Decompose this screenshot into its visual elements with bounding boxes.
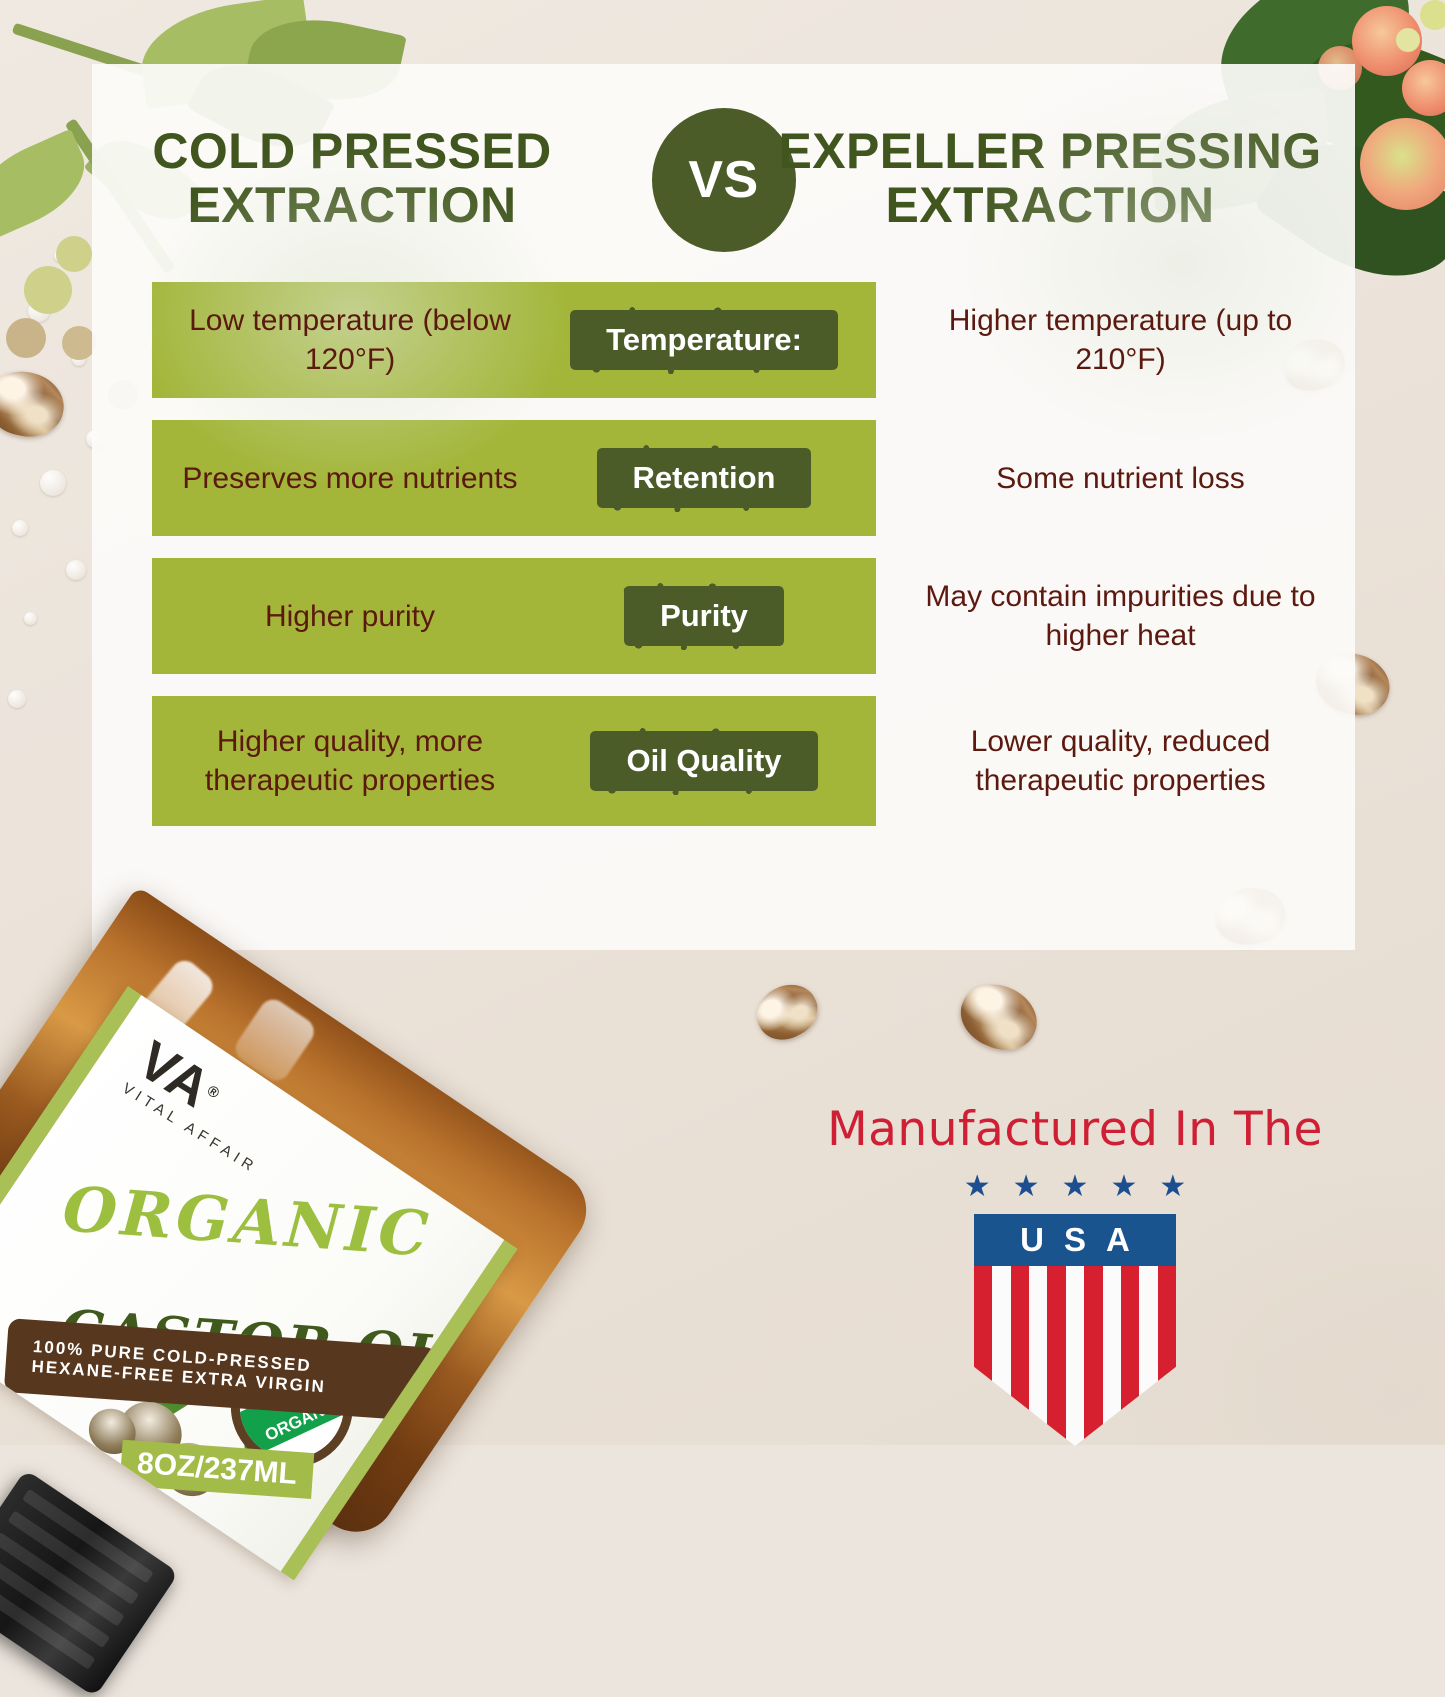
attribute-badge: Retention <box>607 448 802 508</box>
heading-expeller: EXPELLER PRESSING EXTRACTION <box>755 124 1345 232</box>
manufactured-in-usa-badge: Manufactured In The ★ ★ ★ ★ ★ U S A <box>815 1102 1335 1432</box>
usa-letter: S <box>1064 1221 1086 1259</box>
star-icon: ★ <box>1159 1169 1186 1204</box>
attribute-badge: Temperature: <box>580 310 828 370</box>
product-bottle: VA® VITAL AFFAIR ORGANIC CASTOR OIL USDA… <box>0 790 780 1490</box>
star-icon: ★ <box>964 1169 991 1204</box>
usa-badge-title: Manufactured In The <box>815 1102 1335 1157</box>
cell-expeller: Higher temperature (up to 210°F) <box>876 295 1357 385</box>
attribute-badge: Oil Quality <box>600 731 807 791</box>
star-icon: ★ <box>1013 1169 1040 1204</box>
table-row: Preserves more nutrients Retention Some … <box>152 420 1357 536</box>
cell-attribute: Temperature: <box>532 310 876 370</box>
product-name-line1: ORGANIC <box>61 1172 435 1271</box>
cell-cold-pressed: Preserves more nutrients <box>152 453 532 504</box>
cell-attribute: Purity <box>532 586 876 646</box>
cell-expeller: Lower quality, reduced therapeutic prope… <box>876 716 1357 806</box>
cell-cold-pressed: Higher quality, more therapeutic propert… <box>152 716 532 806</box>
bottle-label: VA® VITAL AFFAIR ORGANIC CASTOR OIL USDA… <box>0 986 518 1580</box>
usa-letters-band: U S A <box>974 1214 1176 1266</box>
card-header: COLD PRESSED EXTRACTION VS EXPELLER PRES… <box>92 114 1355 274</box>
star-icon: ★ <box>1062 1169 1089 1204</box>
usa-letter: A <box>1106 1221 1130 1259</box>
usa-stars-row: ★ ★ ★ ★ ★ <box>815 1169 1335 1204</box>
cell-cold-pressed: Higher purity <box>152 591 532 642</box>
comparison-table: Low temperature (below 120°F) Temperatur… <box>152 282 1357 848</box>
heading-cold-pressed: COLD PRESSED EXTRACTION <box>112 124 592 232</box>
table-row: Higher purity Purity May contain impurit… <box>152 558 1357 674</box>
bottle-cap <box>0 1469 179 1697</box>
cell-expeller: Some nutrient loss <box>876 453 1357 504</box>
cell-cold-pressed: Low temperature (below 120°F) <box>152 295 532 385</box>
usa-letter: U <box>1020 1221 1044 1259</box>
usa-flag-stripes <box>974 1266 1176 1446</box>
cell-attribute: Retention <box>532 448 876 508</box>
cell-attribute: Oil Quality <box>532 731 876 791</box>
attribute-badge: Purity <box>634 586 774 646</box>
star-icon: ★ <box>1110 1169 1137 1204</box>
usa-shield: U S A <box>974 1214 1176 1446</box>
table-row: Low temperature (below 120°F) Temperatur… <box>152 282 1357 398</box>
cell-expeller: May contain impurities due to higher hea… <box>876 571 1357 661</box>
